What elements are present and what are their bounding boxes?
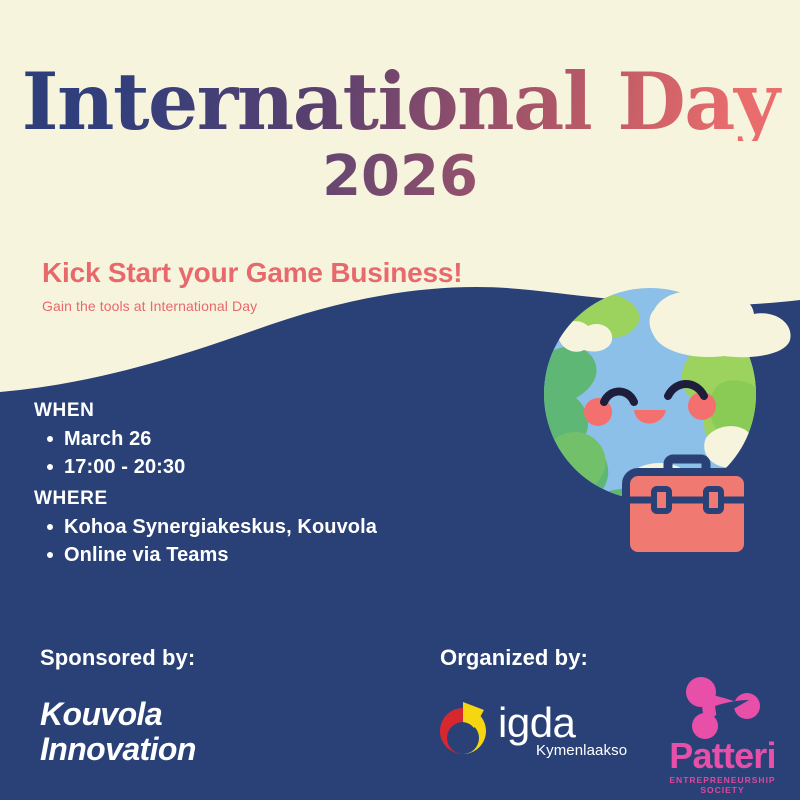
where-list: Kohoa Synergiakeskus, Kouvola Online via… [34, 513, 377, 570]
list-item: Online via Teams [64, 541, 377, 569]
organized-by-label: Organized by: [440, 645, 588, 671]
patteri-subtext: ENTREPRENEURSHIP SOCIETY [650, 775, 795, 795]
patteri-logo: Patteri ENTREPRENEURSHIP SOCIETY [650, 676, 795, 788]
list-item: 17:00 - 20:30 [64, 453, 377, 481]
kouvola-innovation-line2: Innovation [40, 732, 196, 767]
list-item: Kohoa Synergiakeskus, Kouvola [64, 513, 377, 541]
list-item: March 26 [64, 425, 377, 453]
globe-cloud-inner-4 [533, 513, 587, 539]
igda-subtext: Kymenlaakso [536, 742, 627, 759]
when-heading: WHEN [34, 400, 377, 422]
when-list: March 26 17:00 - 20:30 [34, 425, 377, 482]
event-details: WHEN March 26 17:00 - 20:30 WHERE Kohoa … [34, 400, 377, 576]
globe-cloud-inner-2 [704, 426, 779, 469]
tagline-subtext: Gain the tools at International Day [42, 298, 462, 314]
kouvola-innovation-line1: Kouvola [40, 697, 196, 732]
tagline-headline: Kick Start your Game Business! [42, 258, 462, 289]
igda-kymenlaakso-logo: igda Kymenlaakso [432, 698, 632, 778]
globe-cloud-inner-1 [558, 321, 612, 352]
igda-mark-icon [432, 700, 494, 762]
smiling-earth-icon [528, 286, 800, 566]
tagline-block: Kick Start your Game Business! Gain the … [42, 258, 462, 314]
briefcase-icon [626, 459, 748, 556]
title-block: International Day 2026 [0, 62, 800, 205]
patteri-mark-icon [675, 676, 771, 740]
igda-wordmark: igda [498, 702, 575, 744]
kouvola-innovation-logo: Kouvola Innovation [40, 697, 196, 766]
patteri-wordmark: Patteri [650, 738, 795, 774]
sponsored-by-label: Sponsored by: [40, 645, 195, 671]
globe-cloud-top [650, 292, 791, 358]
event-poster: International Day 2026 Kick Start your G… [0, 0, 800, 800]
year-title: 2026 [0, 149, 800, 205]
where-heading: WHERE [34, 488, 377, 510]
page-title: International Day [0, 62, 800, 141]
